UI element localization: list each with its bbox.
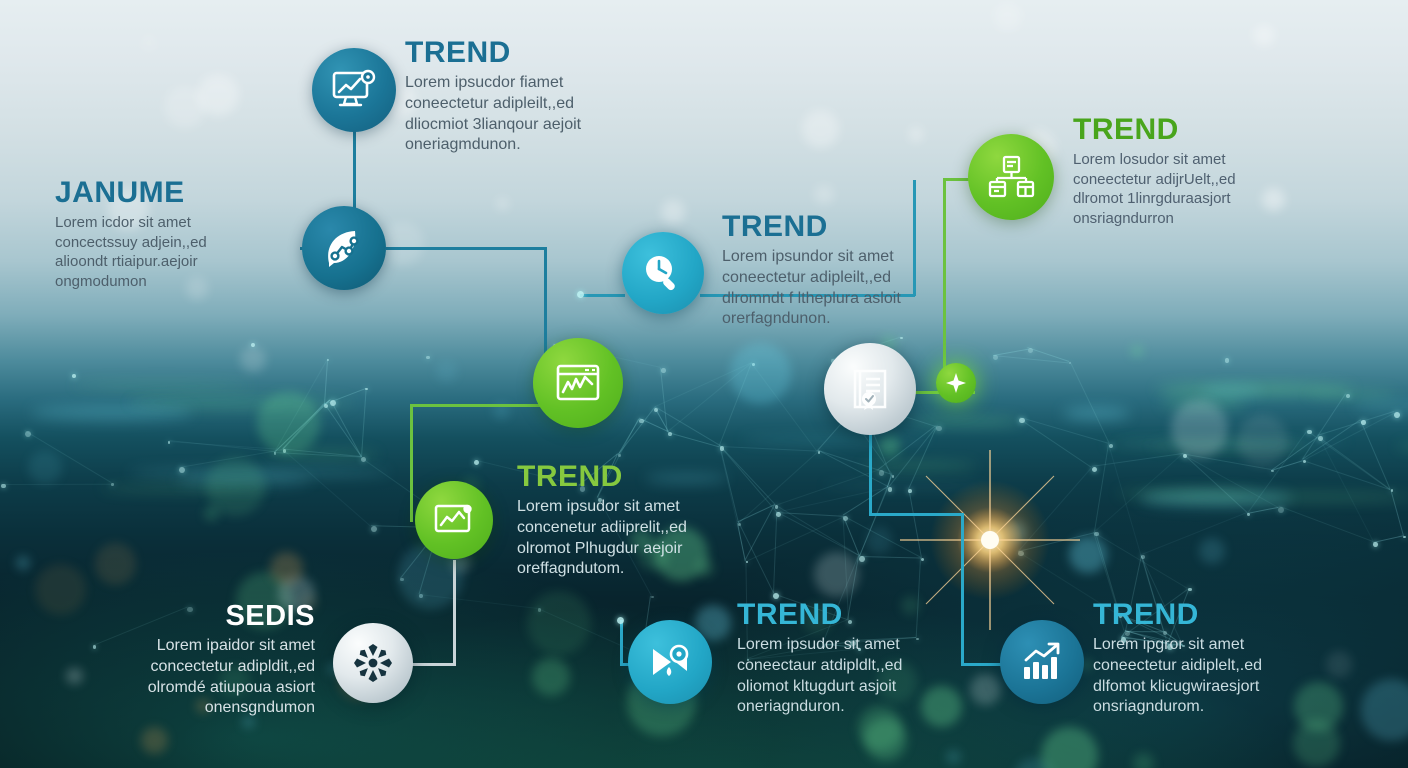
node-hub-spokes[interactable] [333,623,413,703]
node-clock-search[interactable] [622,232,704,314]
certificate-seal-icon [847,366,893,412]
block-title: TREND [1073,115,1313,145]
node-graph-leaf[interactable] [302,206,386,290]
connector-endpoint-dot-2 [617,617,624,624]
monitor-chart-icon [330,68,378,112]
block-body: Lorem ipaidor sit amet concectetur adipl… [75,636,315,719]
text-block-sedis: SEDIS Lorem ipaidor sit amet concectetur… [75,602,315,719]
block-body: Lorem losudor sit amet coneectetur adijr… [1073,150,1313,228]
connector-cert-right [869,513,964,516]
node-certificate[interactable] [824,343,916,435]
block-title: TREND [737,600,972,630]
connector-down-to-browser [544,247,547,362]
node-monitor-chart[interactable] [312,48,396,132]
hub-spokes-icon [351,641,395,685]
clock-magnifier-icon [641,251,685,295]
org-hierarchy-icon [987,154,1035,200]
connector-magnifier-left [580,294,625,297]
block-body: Lorem ipgror sit amet coneectetur aidipl… [1093,635,1328,718]
block-title: TREND [722,212,952,242]
block-body: Lorem ipsucdor fiamet coneectetur adiple… [405,73,635,156]
block-body: Lorem icdor sit amet concectssuy adjein,… [55,213,295,291]
spark-diamond-icon [945,372,967,394]
block-body: Lorem ipsudor sit amet coneectaur atdipl… [737,635,972,718]
connector-megaphone-up [620,620,623,665]
text-block-top-left-trend: TREND Lorem ipsucdor fiamet coneectetur … [405,38,635,156]
node-graph-leaf-icon [321,225,367,271]
block-body: Lorem ipsudor sit amet concenetur adiipr… [517,497,757,580]
block-body: Lorem ipsundor sit amet coneectetur adip… [722,247,952,330]
connector-endpoint-dot [577,291,584,298]
node-growth-bars[interactable] [1000,620,1084,704]
node-org-boxes[interactable] [968,134,1054,220]
node-green-pulse[interactable] [936,363,976,403]
connector-nodegraph-right [386,247,546,250]
block-title: TREND [517,462,757,492]
infographic-canvas: TREND Lorem ipsucdor fiamet coneectetur … [0,0,1408,768]
block-title: TREND [1093,600,1328,630]
browser-chart-icon [554,361,602,405]
connector-to-hubspokes [408,663,456,666]
text-block-top-right-trend: TREND Lorem losudor sit amet coneectetur… [1073,115,1313,228]
block-title: JANUME [55,178,295,208]
megaphone-icon [647,641,693,683]
growth-bar-chart-icon [1019,640,1065,684]
connector-imagechart-down [453,560,456,665]
connector-cert-down [869,430,872,515]
block-title: SEDIS [75,602,315,631]
text-block-janume: JANUME Lorem icdor sit amet concectssuy … [55,178,295,291]
connector-center-left-down [410,404,413,522]
node-megaphone[interactable] [628,620,712,704]
node-image-chart[interactable] [415,481,493,559]
block-title: TREND [405,38,635,68]
image-chart-icon [432,501,476,539]
node-browser-chart[interactable] [533,338,623,428]
text-block-center-trend: TREND Lorem ipsudor sit amet concenetur … [517,462,757,580]
text-block-bottom-right-trend: TREND Lorem ipgror sit amet coneectetur … [1093,600,1328,718]
text-block-mid-trend: TREND Lorem ipsundor sit amet coneectetu… [722,212,952,330]
text-block-bottom-mid-trend: TREND Lorem ipsudor sit amet coneectaur … [737,600,972,718]
